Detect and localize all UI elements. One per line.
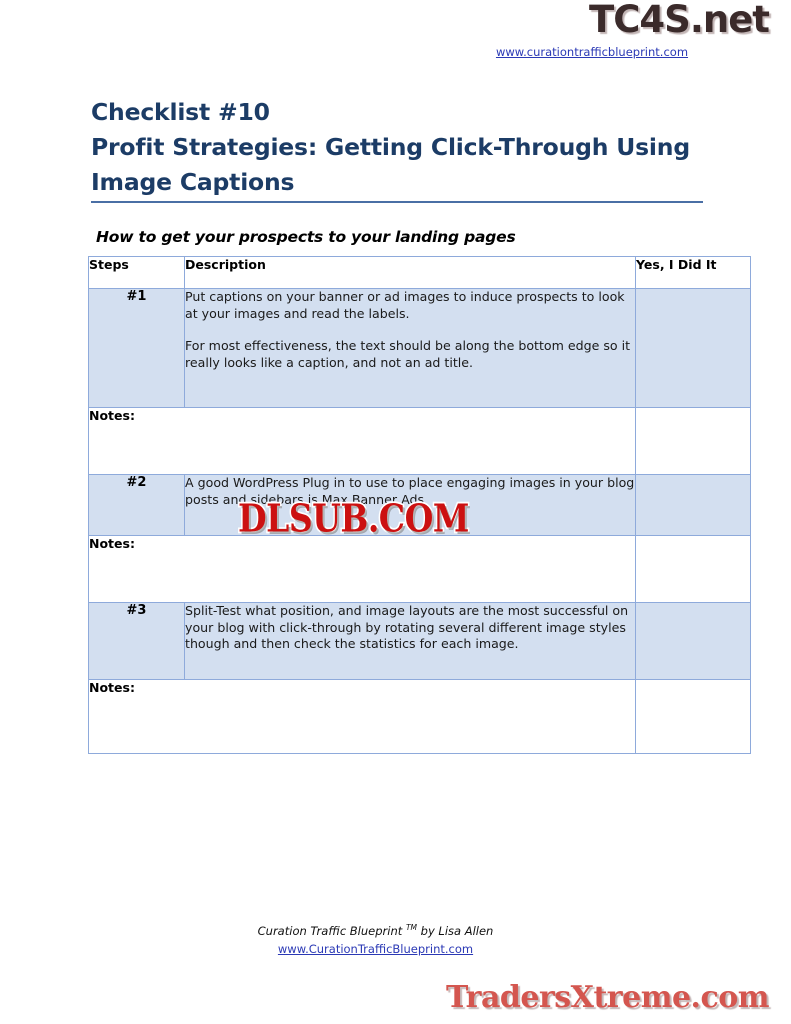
step-description-2: A good WordPress Plug in to use to place… [185, 475, 636, 536]
notes-row: Notes: [89, 680, 751, 754]
table-row: #2 A good WordPress Plug in to use to pl… [89, 475, 751, 536]
table-row: #1 Put captions on your banner or ad ima… [89, 289, 751, 408]
document-page: TC4S.net www.curationtrafficblueprint.co… [0, 0, 791, 1024]
step-description-1: Put captions on your banner or ad images… [185, 289, 636, 408]
subtitle: How to get your prospects to your landin… [96, 228, 515, 246]
title-line-2: Profit Strategies: Getting Click-Through… [91, 130, 711, 165]
checklist-table: Steps Description Yes, I Did It #1 Put c… [88, 256, 751, 754]
notes-checkbox-cell-2[interactable] [636, 536, 751, 603]
header-steps: Steps [89, 257, 185, 289]
notes-checkbox-cell-3[interactable] [636, 680, 751, 754]
step-number-2: #2 [89, 475, 185, 536]
checkbox-cell-1[interactable] [636, 289, 751, 408]
footer-credit: Curation Traffic Blueprint TM by Lisa Al… [0, 920, 751, 939]
notes-row: Notes: [89, 536, 751, 603]
title-line-1: Checklist #10 [91, 95, 711, 130]
notes-label-2[interactable]: Notes: [89, 536, 636, 603]
table-header-row: Steps Description Yes, I Did It [89, 257, 751, 289]
table-row: #3 Split-Test what position, and image l… [89, 603, 751, 680]
tradersxtreme-watermark: TradersXtreme.com [446, 980, 769, 1015]
step-1-paragraph-1: Put captions on your banner or ad images… [185, 289, 635, 322]
page-title: Checklist #10 Profit Strategies: Getting… [91, 95, 711, 200]
footer-site-link[interactable]: www.CurationTrafficBlueprint.com [0, 942, 751, 956]
footer: Curation Traffic Blueprint TM by Lisa Al… [0, 920, 791, 956]
step-2-paragraph-1: A good WordPress Plug in to use to place… [185, 475, 635, 508]
title-line-3: Image Captions [91, 165, 711, 200]
step-1-paragraph-2: For most effectiveness, the text should … [185, 338, 635, 371]
title-divider [91, 201, 703, 203]
header-site-link[interactable]: www.curationtrafficblueprint.com [433, 45, 773, 59]
footer-credit-suffix: by Lisa Allen [417, 924, 493, 938]
step-number-1: #1 [89, 289, 185, 408]
trademark-mark: TM [406, 923, 417, 932]
step-3-paragraph-1: Split-Test what position, and image layo… [185, 603, 635, 653]
step-description-3: Split-Test what position, and image layo… [185, 603, 636, 680]
notes-label-3[interactable]: Notes: [89, 680, 636, 754]
notes-checkbox-cell-1[interactable] [636, 408, 751, 475]
notes-row: Notes: [89, 408, 751, 475]
checkbox-cell-3[interactable] [636, 603, 751, 680]
tc4s-logo: TC4S.net [433, 0, 773, 40]
header-description: Description [185, 257, 636, 289]
checkbox-cell-2[interactable] [636, 475, 751, 536]
brand-header: TC4S.net www.curationtrafficblueprint.co… [433, 0, 773, 59]
footer-credit-prefix: Curation Traffic Blueprint [258, 924, 406, 938]
step-number-3: #3 [89, 603, 185, 680]
header-yes-i-did-it: Yes, I Did It [636, 257, 751, 289]
notes-label-1[interactable]: Notes: [89, 408, 636, 475]
